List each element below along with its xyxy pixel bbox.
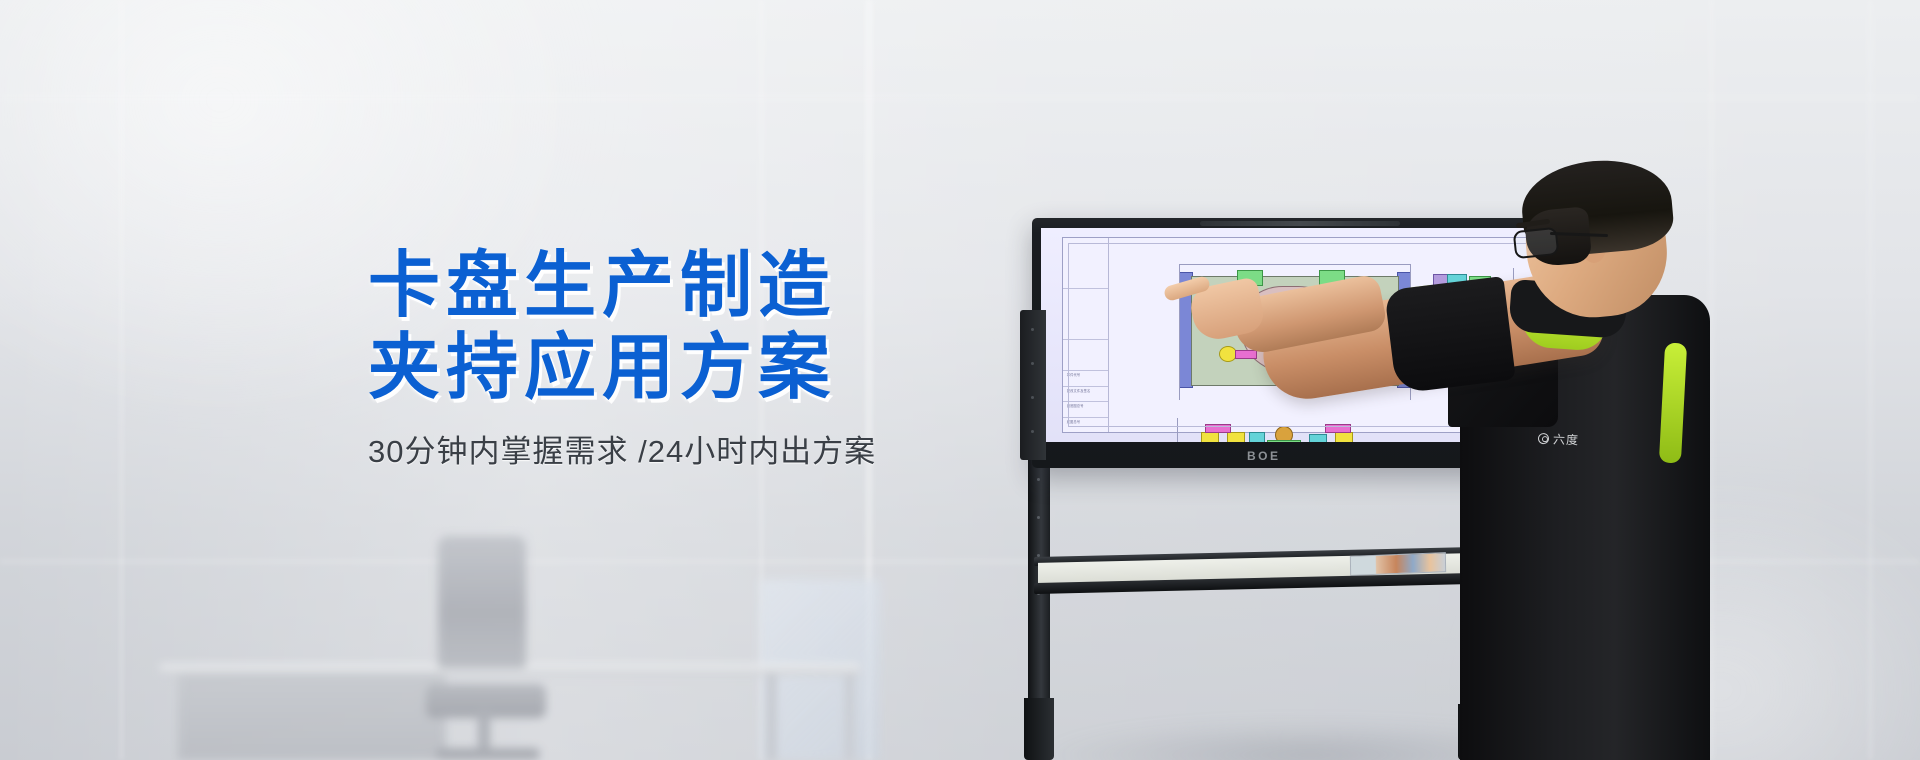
stand-foot-left [1024, 698, 1054, 760]
wall-seam [120, 0, 123, 760]
background-desk-panel [178, 674, 446, 760]
wall-seam [1869, 0, 1872, 760]
side-label: 零件代号 [1067, 372, 1081, 377]
headline-line-1: 卡盘生产制造 [368, 248, 988, 324]
display-brand-logo: BOE [1247, 449, 1281, 463]
side-label: 旧底图总号 [1067, 403, 1084, 408]
company-mark-icon [1538, 432, 1549, 443]
camera-bar-icon [1200, 221, 1400, 226]
wall-seam-horizontal [0, 96, 1920, 99]
presenter-sleeve [1384, 276, 1516, 394]
hero-banner: 卡盘生产制造 夹持应用方案 30分钟内掌握需求 /24小时内出方案 零件代号 更… [0, 0, 1920, 760]
shirt-chest-logo: 六度 [1538, 429, 1601, 449]
background-furniture [160, 520, 860, 760]
hero-subtitle: 30分钟内掌握需求 /24小时内出方案 [368, 432, 988, 472]
background-chair-base [436, 748, 540, 760]
side-label: 底图总号 [1067, 419, 1081, 424]
shirt-logo-text: 六度 [1553, 430, 1580, 448]
hero-copy: 卡盘生产制造 夹持应用方案 30分钟内掌握需求 /24小时内出方案 [368, 248, 988, 472]
side-label: 更改文件及签名 [1067, 388, 1091, 393]
background-desk-leg [845, 674, 854, 760]
background-desk-leg [767, 674, 776, 760]
background-chair [438, 536, 526, 668]
display-side-bracket [1020, 310, 1046, 460]
headline-line-2: 夹持应用方案 [368, 330, 988, 406]
presenter: 六度 [1430, 175, 1850, 760]
cad-view-front [1183, 418, 1395, 442]
drawing-side-label-column: 零件代号 更改文件及签名 旧底图总号 底图总号 [1063, 238, 1109, 433]
